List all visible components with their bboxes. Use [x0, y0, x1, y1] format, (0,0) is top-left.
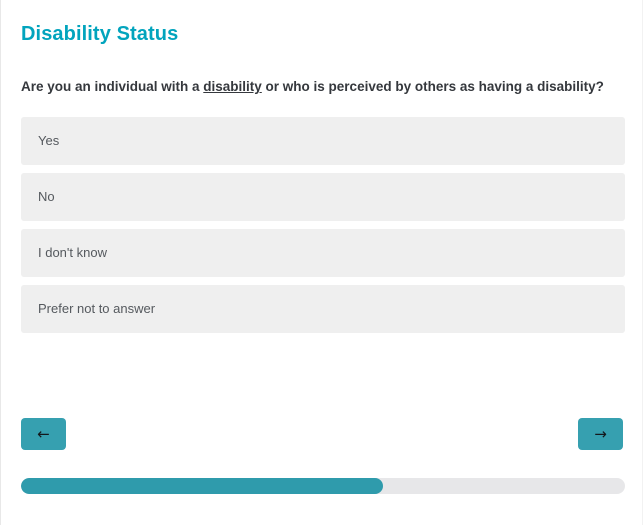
progress-bar-track	[21, 478, 625, 494]
answer-options-list: Yes No I don't know Prefer not to answer	[21, 117, 625, 341]
disability-definition-link[interactable]: disability	[203, 79, 262, 94]
arrow-left-icon: ←	[37, 427, 50, 442]
option-prefer-not-to-answer[interactable]: Prefer not to answer	[21, 285, 625, 333]
progress-bar-fill	[21, 478, 383, 494]
option-label: Yes	[21, 132, 59, 150]
previous-button[interactable]: ←	[21, 418, 66, 450]
option-label: No	[21, 188, 55, 206]
page-title: Disability Status	[21, 21, 178, 47]
arrow-right-icon: →	[594, 427, 607, 442]
option-label: I don't know	[21, 244, 107, 262]
question-prefix: Are you an individual with a	[21, 79, 203, 94]
next-button[interactable]: →	[578, 418, 623, 450]
option-label: Prefer not to answer	[21, 300, 155, 318]
question-text: Are you an individual with a disability …	[21, 78, 622, 96]
option-no[interactable]: No	[21, 173, 625, 221]
navigation-row: ← →	[21, 418, 623, 450]
option-i-dont-know[interactable]: I don't know	[21, 229, 625, 277]
option-yes[interactable]: Yes	[21, 117, 625, 165]
survey-card: Disability Status Are you an individual …	[0, 0, 643, 525]
question-suffix: or who is perceived by others as having …	[262, 79, 604, 94]
